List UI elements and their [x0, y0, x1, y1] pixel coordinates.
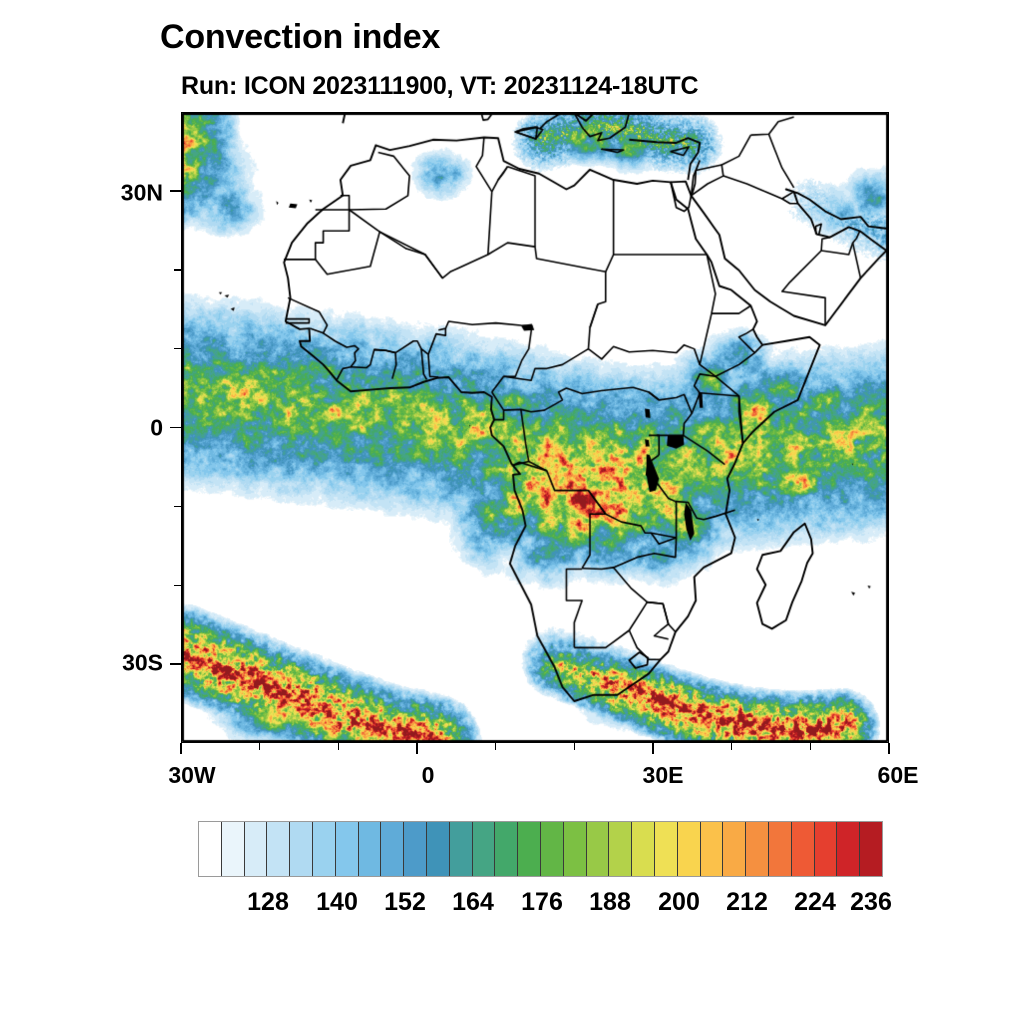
colorbar-cell — [655, 822, 678, 876]
colorbar-tick-label: 200 — [658, 888, 700, 917]
x-tick — [888, 743, 890, 754]
y-tick — [174, 269, 181, 271]
y-tick — [170, 663, 181, 665]
colorbar-cell — [541, 822, 564, 876]
x-tick — [416, 743, 418, 754]
x-tick — [574, 743, 576, 750]
x-tick — [338, 743, 340, 750]
x-tick — [495, 743, 497, 750]
y-axis-label: 0 — [150, 415, 163, 442]
x-tick — [652, 743, 654, 754]
y-axis-label: 30N — [121, 180, 163, 207]
x-tick — [259, 743, 261, 750]
y-axis-label: 30S — [122, 650, 163, 677]
page-title: Convection index — [160, 18, 440, 57]
y-tick — [170, 427, 181, 429]
colorbar-cell — [609, 822, 632, 876]
colorbar-tick-label: 128 — [247, 888, 289, 917]
map-plot-area — [181, 112, 889, 743]
colorbar-cell — [290, 822, 313, 876]
colorbar-cell — [313, 822, 336, 876]
colorbar-tick-label: 152 — [384, 888, 426, 917]
colorbar-cell — [860, 822, 882, 876]
colorbar-cell — [632, 822, 655, 876]
colorbar-cell — [792, 822, 815, 876]
colorbar-cell — [701, 822, 724, 876]
colorbar-cell — [450, 822, 473, 876]
colorbar-tick-label: 188 — [589, 888, 631, 917]
x-tick — [180, 743, 182, 754]
colorbar-cell — [587, 822, 610, 876]
x-tick — [731, 743, 733, 750]
y-tick — [174, 506, 181, 508]
colorbar-cell — [267, 822, 290, 876]
x-axis-label: 30W — [168, 762, 215, 789]
x-tick — [810, 743, 812, 750]
colorbar-cell — [404, 822, 427, 876]
colorbar-cell — [495, 822, 518, 876]
colorbar-cell — [245, 822, 268, 876]
colorbar-cell — [199, 822, 222, 876]
colorbar-cell — [336, 822, 359, 876]
colorbar-cell — [473, 822, 496, 876]
x-axis-label: 0 — [422, 762, 435, 789]
colorbar-cell — [746, 822, 769, 876]
colorbar[interactable] — [198, 821, 883, 877]
colorbar-tick-label: 140 — [316, 888, 358, 917]
x-axis-label: 60E — [878, 762, 919, 789]
colorbar-cell — [222, 822, 245, 876]
colorbar-cell — [815, 822, 838, 876]
colorbar-cell — [381, 822, 404, 876]
run-valid-time-subtitle: Run: ICON 2023111900, VT: 20231124-18UTC — [181, 72, 698, 101]
colorbar-tick-label: 236 — [850, 888, 892, 917]
colorbar-tick-label: 164 — [452, 888, 494, 917]
colorbar-tick-label: 176 — [521, 888, 563, 917]
colorbar-cell — [359, 822, 382, 876]
colorbar-tick-label: 212 — [726, 888, 768, 917]
convection-index-field — [182, 113, 888, 742]
colorbar-cell — [837, 822, 860, 876]
y-tick — [170, 190, 181, 192]
x-axis-label: 30E — [643, 762, 684, 789]
figure-root: Convection index Run: ICON 2023111900, V… — [0, 0, 1024, 1024]
colorbar-cell — [769, 822, 792, 876]
y-tick — [174, 585, 181, 587]
colorbar-cell — [564, 822, 587, 876]
colorbar-cell — [678, 822, 701, 876]
colorbar-cell — [427, 822, 450, 876]
y-tick — [174, 348, 181, 350]
colorbar-cell — [723, 822, 746, 876]
colorbar-tick-label: 224 — [794, 888, 836, 917]
colorbar-cell — [518, 822, 541, 876]
